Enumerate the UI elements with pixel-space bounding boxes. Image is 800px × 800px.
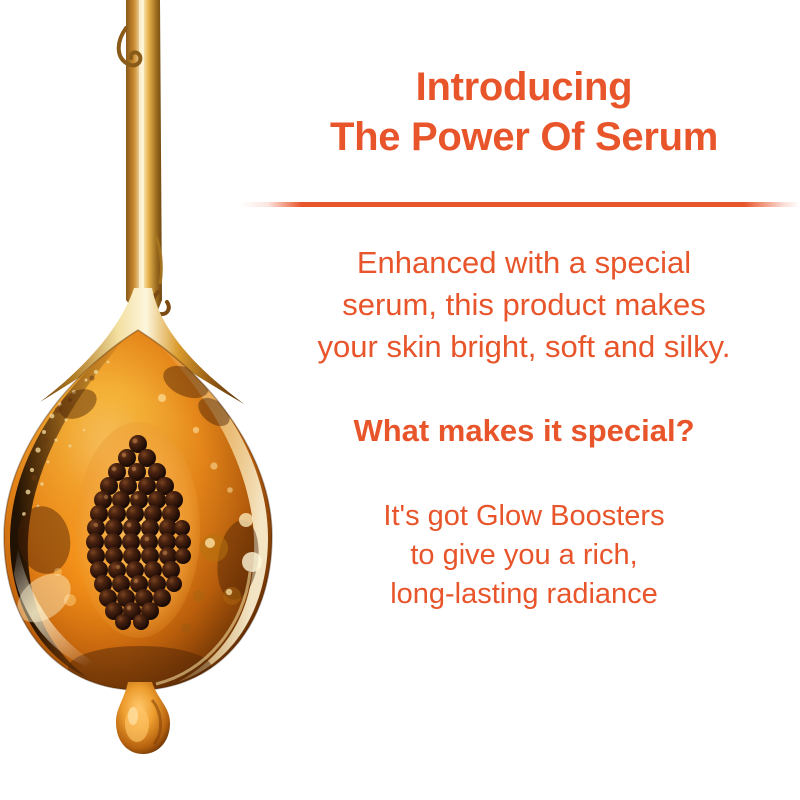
body-copy-line-2: serum, this product makes [248,284,800,326]
body-copy: Enhanced with a special serum, this prod… [248,242,800,368]
closing-copy-line-3: long-lasting radiance [248,575,800,614]
headline-line-1: Introducing [248,62,800,112]
headline-line-2: The Power Of Serum [248,112,800,162]
closing-copy-line-2: to give you a rich, [248,536,800,575]
serum-droplet-artwork [0,0,290,800]
page-title: Introducing The Power Of Serum [248,62,800,163]
body-copy-line-3: your skin bright, soft and silky. [248,326,800,368]
promo-text-column: Introducing The Power Of Serum Enhanced … [248,0,800,800]
falling-droplet [116,682,170,754]
droplet-bulb [0,330,290,700]
divider [240,202,800,207]
oil-stream [119,0,169,330]
closing-copy-line-1: It's got Glow Boosters [248,497,800,536]
subheading: What makes it special? [248,412,800,449]
body-copy-line-1: Enhanced with a special [248,242,800,284]
closing-copy: It's got Glow Boosters to give you a ric… [248,497,800,614]
serum-promo-poster: Introducing The Power Of Serum Enhanced … [0,0,800,800]
